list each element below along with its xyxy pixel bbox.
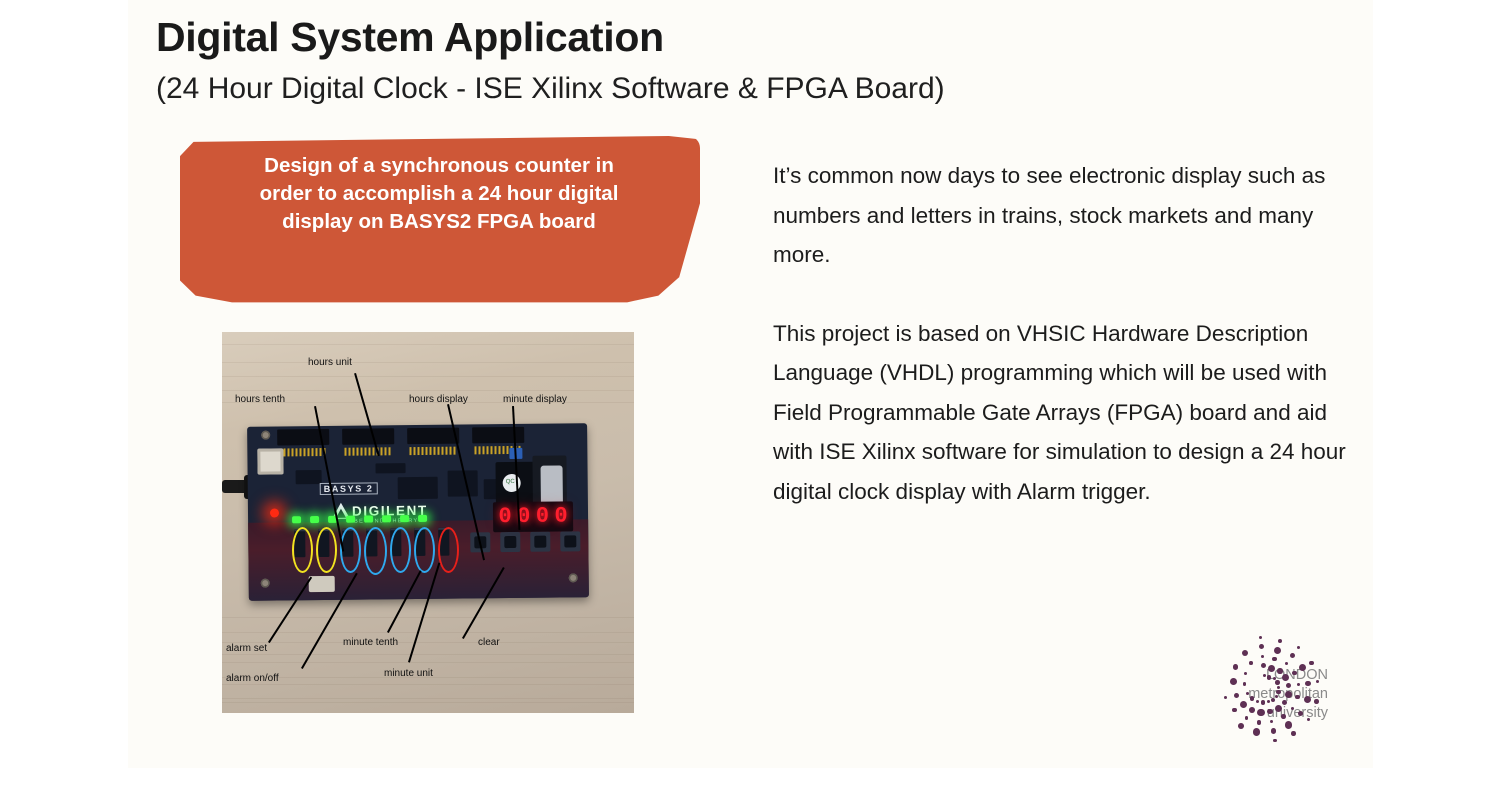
- fpga-chip: [398, 477, 438, 499]
- logo-dot: [1271, 728, 1277, 734]
- status-led: [418, 515, 427, 522]
- logo-dot: [1267, 709, 1273, 715]
- logo-dot: [1246, 692, 1249, 695]
- annotation-alarm-set: alarm set: [226, 643, 267, 654]
- seven-segment-digit: 0: [536, 506, 549, 528]
- pin-header: [279, 448, 327, 457]
- mounting-hole: [569, 573, 578, 582]
- callout-line-3: display on BASYS2 FPGA board: [204, 208, 674, 236]
- logo-dot: [1281, 714, 1286, 719]
- callout-line-2: order to accomplish a 24 hour digital: [204, 180, 674, 208]
- logo-dot: [1305, 681, 1310, 686]
- logo-dot: [1290, 653, 1295, 658]
- logo-dot: [1277, 668, 1282, 673]
- fpga-board-photo: BASYS 2 DIGILENT BEYOND THEORY: [222, 332, 634, 713]
- body-text-column: It’s common now days to see electronic d…: [773, 156, 1373, 550]
- logo-dot: [1309, 661, 1314, 666]
- logo-dot: [1249, 707, 1255, 713]
- annotation-hours-display: hours display: [409, 394, 468, 405]
- highlight-ellipse-alarm-set: [292, 527, 313, 573]
- callout-banner: Design of a synchronous counter in order…: [180, 136, 700, 304]
- annotation-clear: clear: [478, 637, 500, 648]
- logo-dot: [1244, 672, 1247, 675]
- logo-dot: [1249, 661, 1253, 665]
- push-button: [530, 532, 550, 552]
- logo-dot: [1291, 731, 1296, 736]
- logo-dot: [1297, 646, 1300, 649]
- logo-dot: [1233, 664, 1238, 669]
- highlight-ellipse-clear: [438, 527, 459, 573]
- wood-grain-line: [222, 702, 634, 703]
- logo-dot: [1282, 700, 1287, 705]
- callout-line-1: Design of a synchronous counter in: [204, 152, 674, 180]
- mounting-hole: [261, 579, 270, 588]
- pmod-connector: [407, 428, 459, 445]
- logo-dot: [1273, 739, 1276, 742]
- logo-dot: [1275, 705, 1282, 712]
- page-title: Digital System Application: [156, 14, 664, 61]
- logo-dot: [1242, 650, 1248, 656]
- annotation-minute-unit: minute unit: [384, 668, 433, 679]
- wood-grain-line: [222, 376, 634, 377]
- logo-dot: [1291, 707, 1294, 710]
- logo-dot: [1257, 720, 1262, 725]
- annotation-hours-unit: hours unit: [308, 357, 352, 368]
- logo-dot: [1274, 647, 1281, 654]
- logo-dot: [1278, 639, 1282, 643]
- logo-dot: [1285, 662, 1288, 665]
- logo-dot: [1285, 721, 1292, 728]
- logo-dot: [1307, 718, 1310, 721]
- annotation-hours-tenth: hours tenth: [235, 394, 285, 405]
- pin-header: [344, 447, 392, 456]
- page-subtitle: (24 Hour Digital Clock - ISE Xilinx Soft…: [156, 72, 945, 106]
- wood-grain-line: [222, 662, 634, 663]
- logo-dot: [1314, 699, 1319, 704]
- logo-dot: [1234, 693, 1239, 698]
- highlight-ellipse-hours-unit: [364, 527, 387, 575]
- logo-dot: [1261, 655, 1264, 658]
- pin-header: [409, 447, 457, 456]
- status-led: [382, 515, 391, 522]
- wood-grain-line: [222, 642, 634, 643]
- usb-port: [257, 448, 283, 474]
- ic-chip: [296, 470, 322, 484]
- seven-segment-display: 0 0 0 0: [493, 501, 573, 532]
- push-button: [560, 531, 580, 551]
- slide-canvas: Digital System Application (24 Hour Digi…: [128, 0, 1373, 768]
- logo-dot: [1304, 696, 1311, 703]
- logo-dot: [1238, 723, 1244, 729]
- highlight-ellipse-minute-tenth: [390, 527, 411, 573]
- logo-dot: [1245, 716, 1248, 719]
- status-led: [346, 516, 355, 523]
- logo-dot: [1292, 671, 1297, 676]
- callout-banner-text: Design of a synchronous counter in order…: [204, 152, 674, 236]
- wood-grain-line: [222, 684, 634, 685]
- annotation-alarm-on-off: alarm on/off: [226, 673, 279, 684]
- logo-dot: [1272, 657, 1276, 661]
- body-paragraph-1: It’s common now days to see electronic d…: [773, 156, 1373, 275]
- logo-dot: [1263, 674, 1266, 677]
- logo-dot: [1257, 709, 1264, 716]
- logo-dot: [1275, 680, 1280, 685]
- seven-segment-digit: 0: [498, 506, 511, 528]
- status-led: [400, 515, 409, 522]
- logo-dot: [1253, 728, 1260, 735]
- annotation-minute-display: minute display: [503, 394, 567, 405]
- logo-dot: [1259, 644, 1264, 649]
- status-led: [364, 515, 373, 522]
- pmod-connector: [342, 428, 394, 445]
- mounting-hole: [261, 431, 270, 440]
- annotation-minute-tenth: minute tenth: [343, 637, 398, 648]
- pmod-connector: [472, 427, 524, 444]
- logo-dot: [1250, 696, 1254, 700]
- status-led: [292, 516, 301, 523]
- highlight-ellipse-alarm-onoff: [316, 527, 337, 573]
- ic-chip: [375, 463, 405, 473]
- status-led: [310, 516, 319, 523]
- wood-grain-line: [222, 344, 634, 345]
- logo-dot: [1267, 675, 1271, 679]
- power-led: [270, 508, 279, 517]
- logo-dot: [1232, 708, 1236, 712]
- seven-segment-digit: 0: [554, 505, 567, 527]
- logo-dot: [1297, 683, 1300, 686]
- push-button: [500, 532, 520, 552]
- usb-mini-port: [309, 576, 335, 592]
- logo-dot: [1240, 701, 1247, 708]
- london-met-logo: LONDON metropolitan university: [1210, 632, 1373, 750]
- logo-dot: [1259, 636, 1262, 639]
- logo-dot: [1285, 691, 1292, 698]
- highlight-ellipse-minute-unit: [414, 527, 435, 573]
- logo-dot: [1295, 695, 1300, 700]
- logo-dot: [1230, 678, 1237, 685]
- body-paragraph-2: This project is based on VHSIC Hardware …: [773, 314, 1373, 512]
